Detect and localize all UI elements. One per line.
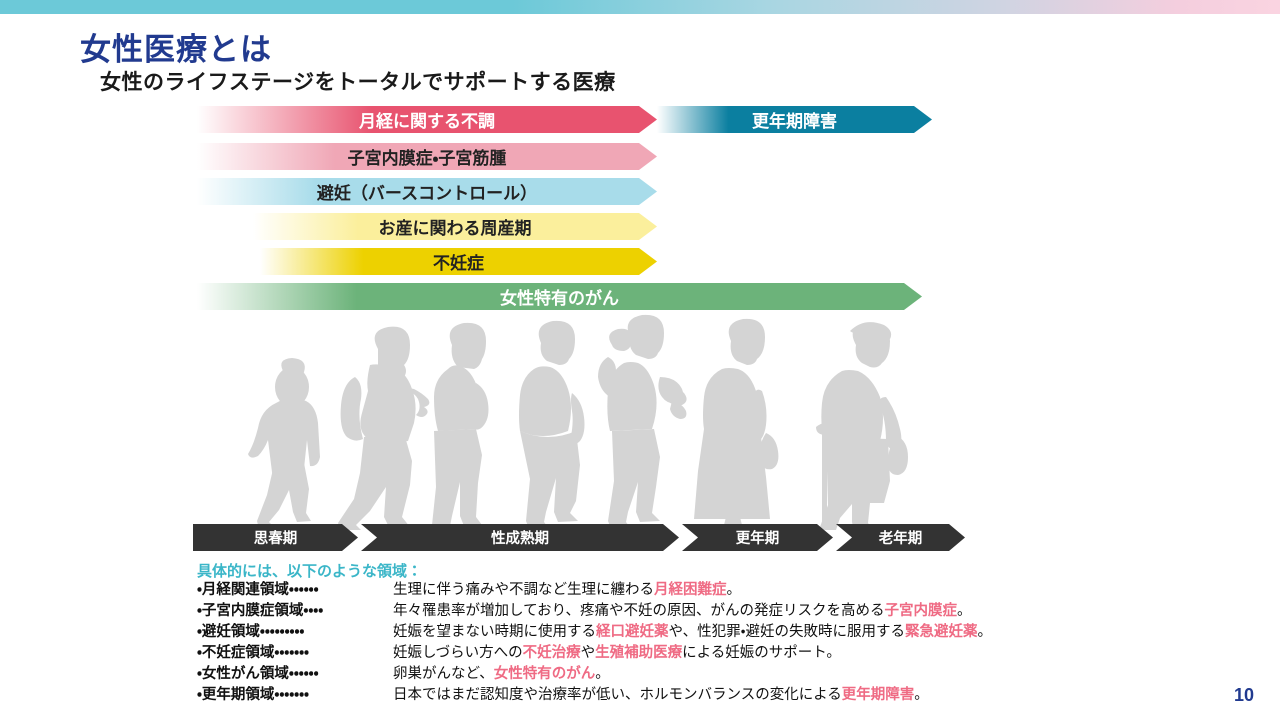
- condition-bar-label: お産に関わる周産期: [379, 214, 532, 239]
- detail-plain-text: 日本ではまだ認知度や治療率が低い、ホルモンバランスの変化による: [393, 687, 842, 703]
- detail-plain-text: 妊娠を望まない時期に使用する: [393, 624, 596, 640]
- detail-highlight-term: 生殖補助医療: [595, 645, 682, 661]
- condition-bar-label: 子宮内膜症・子宮筋腫: [348, 144, 507, 169]
- condition-bar: 避妊（バースコントロール）: [197, 178, 657, 205]
- detail-row-text: 妊娠を望まない時期に使用する経口避妊薬や、性犯罪・避妊の失敗時に服用する緊急避妊…: [393, 620, 992, 641]
- detail-row: ・更年期領域・・・・・・・日本ではまだ認知度や治療率が低い、ホルモンバランスの変…: [197, 683, 929, 704]
- condition-bar-label: 月経に関する不調: [359, 107, 495, 132]
- detail-row-key: ・避妊領域・・・・・・・・・: [197, 620, 393, 641]
- detail-plain-text: による妊娠のサポート。: [682, 645, 841, 661]
- condition-bar: お産に関わる周産期: [253, 213, 657, 240]
- timeline-segment-label: 老年期: [879, 527, 923, 548]
- detail-plain-text: 。: [595, 666, 610, 682]
- detail-highlight-term: 女性特有のがん: [494, 666, 596, 682]
- detail-row-text: 年々罹患率が増加しており、疼痛や不妊の原因、がんの発症リスクを高める子宮内膜症。: [393, 599, 972, 620]
- condition-bar: 不妊症: [260, 248, 657, 275]
- condition-bar: 女性特有のがん: [197, 283, 922, 310]
- detail-row-text: 日本ではまだ認知度や治療率が低い、ホルモンバランスの変化による更年期障害。: [393, 683, 929, 704]
- detail-highlight-term: 不妊治療: [523, 645, 581, 661]
- detail-row-key: ・不妊症領域・・・・・・・: [197, 641, 393, 662]
- condition-bar-label: 女性特有のがん: [500, 284, 619, 309]
- timeline-segment-label: 性成熟期: [491, 527, 549, 548]
- detail-row-text: 妊娠しづらい方への不妊治療や生殖補助医療による妊娠のサポート。: [393, 641, 841, 662]
- detail-row: ・不妊症領域・・・・・・・妊娠しづらい方への不妊治療や生殖補助医療による妊娠のサ…: [197, 641, 841, 662]
- detail-plain-text: 卵巣がんなど、: [393, 666, 494, 682]
- timeline-segment-label: 更年期: [736, 527, 780, 548]
- detail-plain-text: 。: [978, 624, 993, 640]
- detail-row: ・月経関連領域・・・・・・生理に伴う痛みや不調など生理に纏わる月経困難症。: [197, 578, 741, 599]
- timeline-segment-label: 思春期: [254, 527, 298, 548]
- detail-row: ・子宮内膜症領域・・・・年々罹患率が増加しており、疼痛や不妊の原因、がんの発症リ…: [197, 599, 972, 620]
- timeline-segment: 老年期: [836, 524, 965, 551]
- condition-bar: 更年期障害: [657, 106, 932, 133]
- detail-row: ・避妊領域・・・・・・・・・妊娠を望まない時期に使用する経口避妊薬や、性犯罪・避…: [197, 620, 992, 641]
- timeline-segment: 思春期: [193, 524, 358, 551]
- page-number: 10: [1234, 685, 1254, 706]
- condition-bar: 月経に関する不調: [197, 106, 657, 133]
- detail-highlight-term: 緊急避妊薬: [905, 624, 978, 640]
- timeline-segment: 性成熟期: [361, 524, 679, 551]
- condition-bar-label: 更年期障害: [752, 107, 837, 132]
- detail-plain-text: や: [581, 645, 596, 661]
- detail-row-key: ・更年期領域・・・・・・・: [197, 683, 393, 704]
- detail-plain-text: 生理に伴う痛みや不調など生理に纏わる: [393, 582, 654, 598]
- timeline-segment: 更年期: [682, 524, 833, 551]
- detail-row-key: ・月経関連領域・・・・・・: [197, 578, 393, 599]
- detail-plain-text: や、性犯罪・避妊の失敗時に服用する: [669, 624, 906, 640]
- detail-highlight-term: 経口避妊薬: [596, 624, 669, 640]
- detail-plain-text: 。: [914, 687, 929, 703]
- condition-bar: 子宮内膜症・子宮筋腫: [197, 143, 657, 170]
- detail-row-key: ・女性がん領域・・・・・・: [197, 662, 393, 683]
- detail-plain-text: 妊娠しづらい方への: [393, 645, 523, 661]
- condition-bar-label: 避妊（バースコントロール）: [317, 179, 537, 204]
- detail-row-text: 生理に伴う痛みや不調など生理に纏わる月経困難症。: [393, 578, 741, 599]
- condition-bar-label: 不妊症: [433, 249, 484, 274]
- detail-plain-text: 。: [957, 603, 972, 619]
- detail-row-text: 卵巣がんなど、女性特有のがん。: [393, 662, 610, 683]
- slide-root: 女性医療とは 女性のライフステージをトータルでサポートする医療: [0, 0, 1280, 720]
- detail-plain-text: 。: [727, 582, 742, 598]
- detail-highlight-term: 子宮内膜症: [885, 603, 958, 619]
- detail-row-key: ・子宮内膜症領域・・・・: [197, 599, 393, 620]
- detail-plain-text: 年々罹患率が増加しており、疼痛や不妊の原因、がんの発症リスクを高める: [393, 603, 885, 619]
- detail-highlight-term: 更年期障害: [842, 687, 915, 703]
- detail-highlight-term: 月経困難症: [654, 582, 727, 598]
- detail-row: ・女性がん領域・・・・・・卵巣がんなど、女性特有のがん。: [197, 662, 610, 683]
